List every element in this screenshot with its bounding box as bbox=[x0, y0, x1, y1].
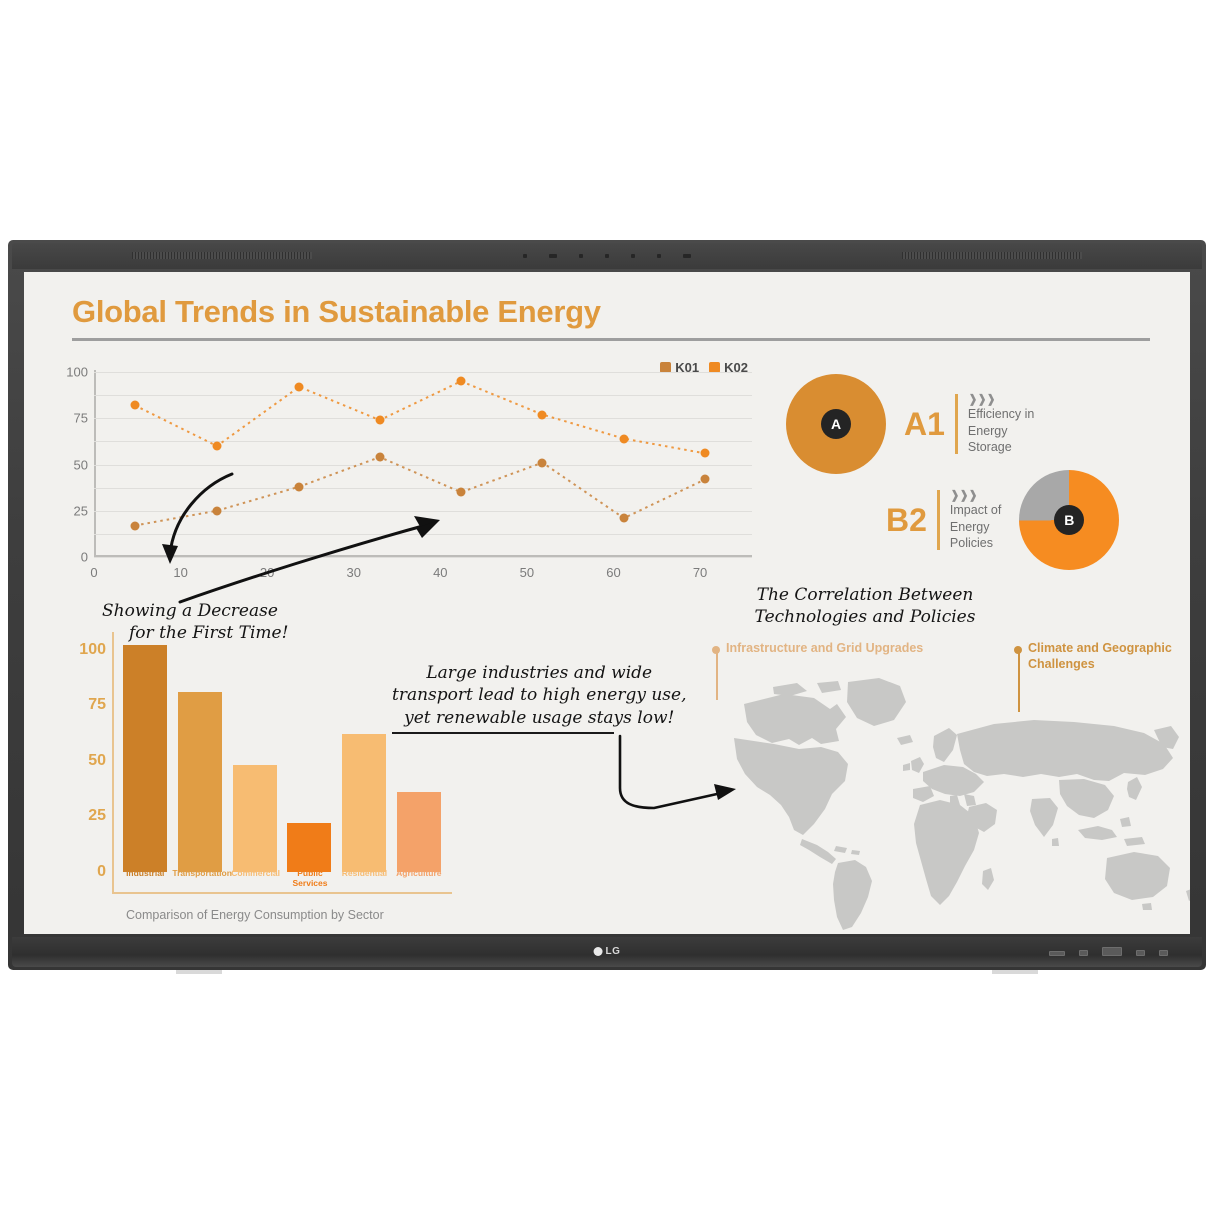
speaker-grille-left bbox=[132, 252, 312, 259]
bar-chart-category-label: Commercial bbox=[228, 868, 282, 888]
line-chart-point[interactable] bbox=[457, 488, 466, 497]
line-chart-y-tick: 0 bbox=[81, 550, 88, 565]
map-label-infrastructure[interactable]: Infrastructure and Grid Upgrades bbox=[726, 641, 923, 657]
usb-port-icon bbox=[1136, 950, 1145, 956]
kpi-block-b2[interactable]: B2 ❱❱❱ Impact of Energy Policies B bbox=[886, 470, 1119, 570]
bar-chart-category-labels: IndustrialTransportationCommercialPublic… bbox=[118, 868, 446, 888]
bar-chart-bar-wrapper bbox=[342, 632, 386, 872]
line-chart-x-tick: 60 bbox=[606, 565, 620, 580]
line-chart-y-tick: 25 bbox=[74, 503, 88, 518]
stand-foot-right bbox=[992, 970, 1038, 974]
map-connector-infrastructure bbox=[716, 652, 718, 700]
hdmi-port-icon bbox=[1102, 947, 1122, 956]
lg-logo-dot-icon bbox=[594, 947, 603, 956]
line-chart-point[interactable] bbox=[538, 458, 547, 467]
bar-chart-category-label: Transportation bbox=[172, 868, 228, 888]
line-chart-point[interactable] bbox=[130, 521, 139, 530]
map-connector-climate bbox=[1018, 652, 1020, 712]
world-map[interactable] bbox=[714, 664, 1190, 934]
bar-chart-bar-wrapper bbox=[287, 632, 331, 872]
lg-interactive-display: Global Trends in Sustainable Energy K01K… bbox=[8, 240, 1206, 970]
annotation-note-correlation: The Correlation Between Technologies and… bbox=[730, 584, 1000, 629]
line-chart-x-tick: 70 bbox=[693, 565, 707, 580]
stand-foot-left bbox=[176, 970, 222, 974]
display-screen[interactable]: Global Trends in Sustainable Energy K01K… bbox=[24, 272, 1190, 934]
bar-chart-bar[interactable] bbox=[178, 692, 222, 872]
bar-chart-y-tick: 100 bbox=[72, 641, 106, 659]
bar-chart-caption: Comparison of Energy Consumption by Sect… bbox=[126, 908, 384, 922]
bar-chart-bar[interactable] bbox=[233, 765, 277, 872]
sensor-array bbox=[523, 254, 691, 258]
bar-chart-y-tick: 0 bbox=[72, 863, 106, 881]
line-chart-y-tick: 100 bbox=[66, 365, 88, 380]
usb-port-icon bbox=[1159, 950, 1168, 956]
bar-chart-category-label: Public Services bbox=[283, 868, 337, 888]
bottom-bezel-strip: LG bbox=[12, 937, 1202, 967]
bar-chart-bar-wrapper bbox=[178, 632, 222, 872]
map-pin-climate bbox=[1014, 646, 1022, 654]
usb-port-icon bbox=[1079, 950, 1088, 956]
bar-chart-y-axis bbox=[112, 632, 114, 894]
lg-brand-logo: LG bbox=[594, 946, 621, 957]
bar-chart-bar[interactable] bbox=[342, 734, 386, 872]
bar-chart-bar[interactable] bbox=[123, 645, 167, 872]
top-bezel-strip bbox=[12, 243, 1202, 269]
line-chart-x-tick: 0 bbox=[90, 565, 97, 580]
line-chart-x-tick: 50 bbox=[520, 565, 534, 580]
kpi-a1-description: Efficiency in Energy Storage bbox=[968, 406, 1034, 457]
line-chart-point[interactable] bbox=[701, 475, 710, 484]
bar-chart-category-label: Agriculture bbox=[392, 868, 446, 888]
chevrons-right-icon: ❱❱❱ bbox=[968, 392, 1034, 406]
sensor-dot bbox=[657, 254, 661, 258]
bar-chart-bar[interactable] bbox=[287, 823, 331, 872]
kpi-b2-divider bbox=[937, 490, 940, 550]
bar-chart-x-axis bbox=[112, 892, 452, 894]
lg-brand-text: LG bbox=[606, 946, 621, 957]
sensor-dot bbox=[605, 254, 609, 258]
kpi-a1-code: A1 bbox=[904, 406, 945, 443]
pie-chart-a: A bbox=[786, 374, 886, 474]
presentation-slide: Global Trends in Sustainable Energy K01K… bbox=[24, 272, 1190, 934]
line-chart-point[interactable] bbox=[457, 377, 466, 386]
sensor-dot bbox=[523, 254, 527, 258]
bar-chart-bar[interactable] bbox=[397, 792, 441, 872]
kpi-b2-code: B2 bbox=[886, 502, 927, 539]
line-chart-point[interactable] bbox=[130, 401, 139, 410]
line-chart-y-tick: 75 bbox=[74, 411, 88, 426]
page-title: Global Trends in Sustainable Energy bbox=[72, 294, 601, 330]
sensor-dot bbox=[683, 254, 691, 258]
bar-chart-category-label: Industrial bbox=[118, 868, 172, 888]
pie-a-badge: A bbox=[821, 409, 851, 439]
bar-chart-y-tick: 25 bbox=[72, 807, 106, 825]
annotation-underline bbox=[392, 732, 614, 734]
usb-c-port-icon bbox=[1049, 951, 1065, 956]
bar-chart-y-tick: 50 bbox=[72, 752, 106, 770]
sensor-dot bbox=[631, 254, 635, 258]
bar-chart-y-tick: 75 bbox=[72, 696, 106, 714]
port-cluster[interactable] bbox=[1049, 947, 1168, 956]
kpi-a1-divider bbox=[955, 394, 958, 454]
annotation-arrow-to-line bbox=[172, 450, 452, 610]
sensor-dot bbox=[549, 254, 557, 258]
title-divider bbox=[72, 338, 1150, 341]
line-chart-point[interactable] bbox=[619, 514, 628, 523]
annotation-note-industries: Large industries and wide transport lead… bbox=[392, 662, 686, 729]
map-pin-infrastructure bbox=[712, 646, 720, 654]
bar-chart-category-label: Residential bbox=[337, 868, 391, 888]
speaker-grille-right bbox=[902, 252, 1082, 259]
kpi-b2-description: Impact of Energy Policies bbox=[950, 502, 1001, 553]
map-label-climate[interactable]: Climate and Geographic Challenges bbox=[1028, 641, 1172, 672]
line-chart-point[interactable] bbox=[295, 382, 304, 391]
line-chart-point[interactable] bbox=[538, 410, 547, 419]
line-chart-point[interactable] bbox=[619, 434, 628, 443]
line-chart-y-tick: 50 bbox=[74, 457, 88, 472]
bar-chart-bar-wrapper bbox=[233, 632, 277, 872]
world-map-graphic bbox=[714, 664, 1190, 934]
kpi-block-a1[interactable]: A A1 ❱❱❱ Efficiency in Energy Storage bbox=[786, 374, 1034, 474]
line-chart-point[interactable] bbox=[701, 449, 710, 458]
sensor-dot bbox=[579, 254, 583, 258]
line-chart-point[interactable] bbox=[375, 416, 384, 425]
pie-chart-b: B bbox=[1019, 470, 1119, 570]
bar-chart-bar-wrapper bbox=[123, 632, 167, 872]
chevrons-right-icon: ❱❱❱ bbox=[950, 488, 1001, 502]
